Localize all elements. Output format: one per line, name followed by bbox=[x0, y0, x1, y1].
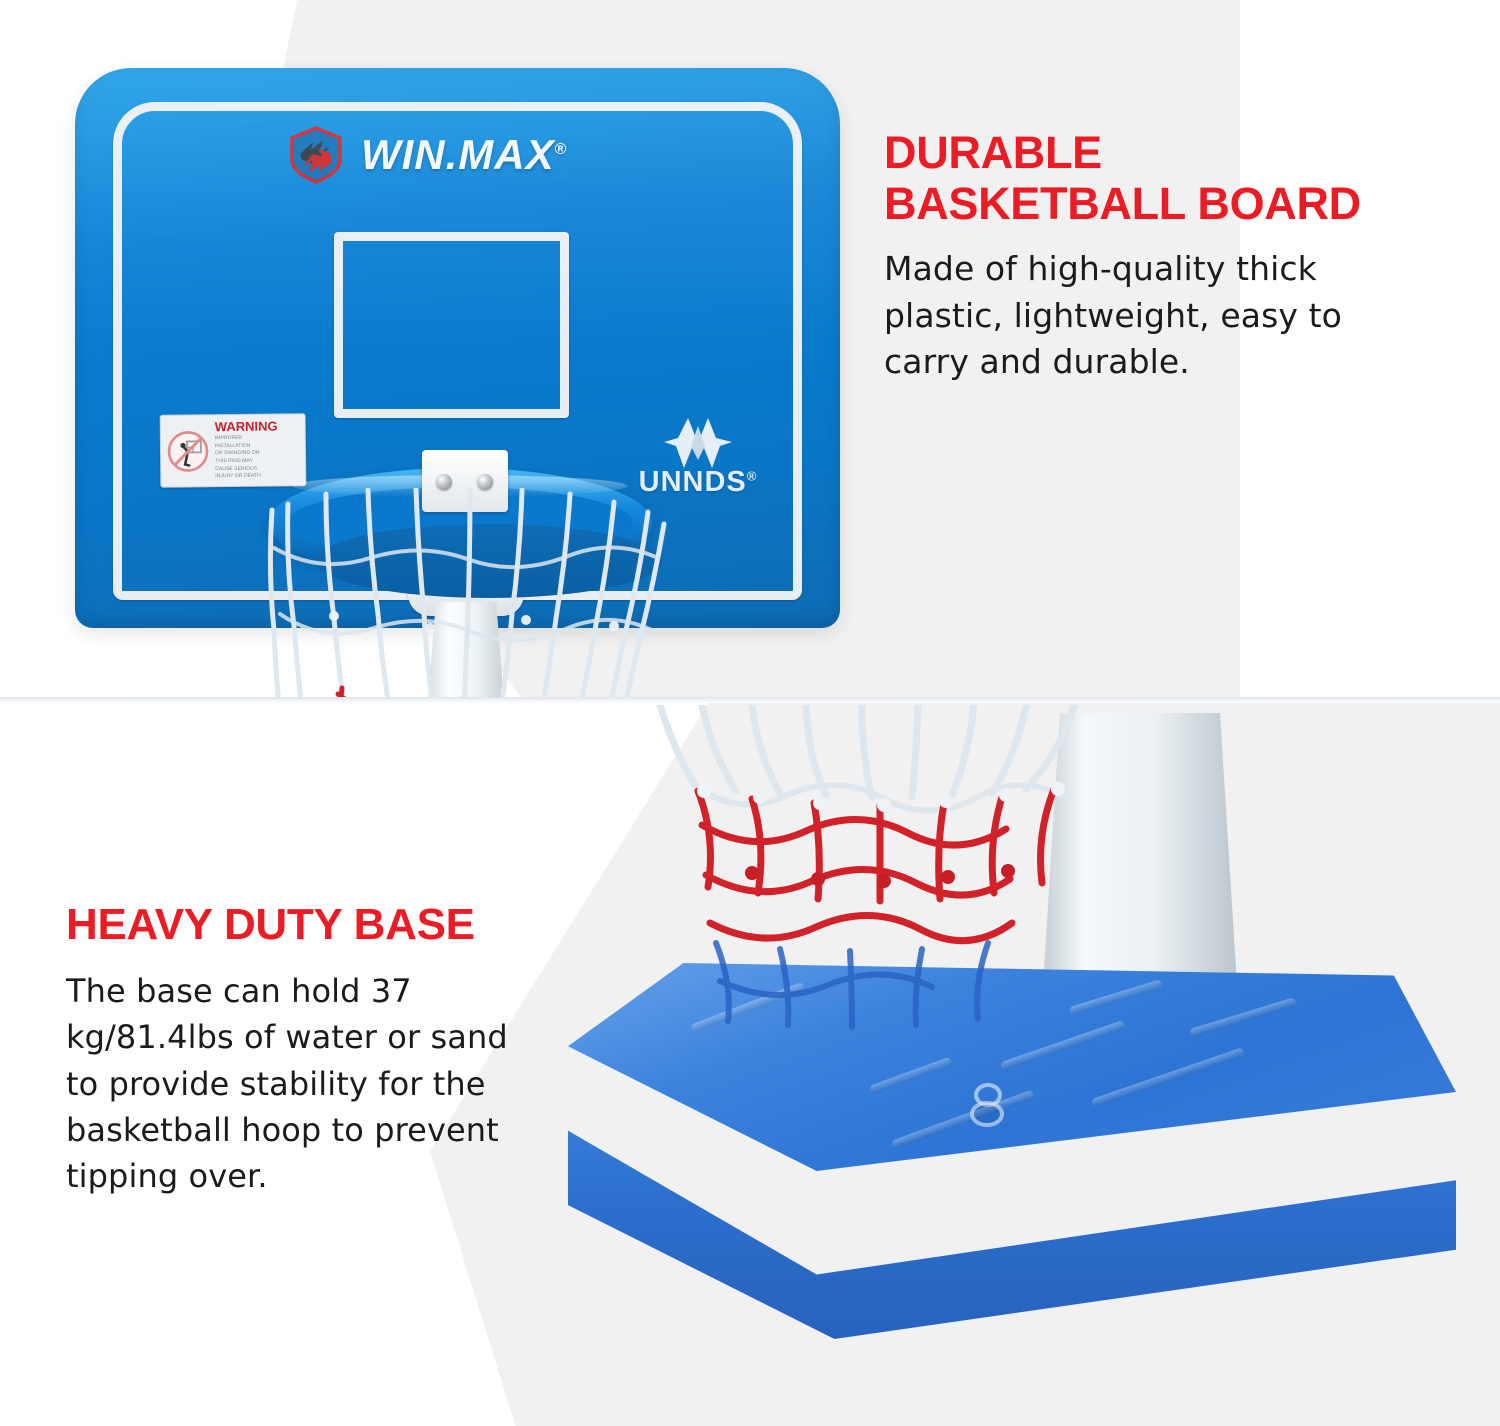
rim-inner-opening bbox=[316, 524, 662, 598]
warning-title: WARNING bbox=[215, 420, 278, 434]
feature-headline: HEAVY DUTY BASE bbox=[66, 900, 536, 950]
product-image-backboard: WIN.MAX® WARNING IMPROPER INSTALLATIO bbox=[60, 58, 860, 697]
winmax-shield-icon bbox=[289, 126, 343, 184]
product-feature-page: WIN.MAX® WARNING IMPROPER INSTALLATIO bbox=[0, 0, 1500, 1426]
panel-durable-basketball-board: WIN.MAX® WARNING IMPROPER INSTALLATIO bbox=[0, 0, 1500, 697]
base-rib bbox=[1091, 1047, 1245, 1108]
bracket-bolt-right bbox=[477, 474, 493, 490]
star-emblem-icon bbox=[662, 416, 734, 470]
brand-logo-text: WIN.MAX® bbox=[361, 131, 567, 179]
feature-text-block-bottom: HEAVY DUTY BASE The base can hold 37 kg/… bbox=[66, 900, 536, 1200]
weighted-base bbox=[568, 963, 1456, 1341]
panel-heavy-duty-base: HEAVY DUTY BASE The base can hold 37 kg/… bbox=[0, 703, 1500, 1426]
bracket-bolt-left bbox=[436, 474, 452, 490]
fill-cap-ring-lower bbox=[970, 1101, 1004, 1127]
feature-description: The base can hold 37 kg/81.4lbs of water… bbox=[66, 968, 536, 1200]
feature-text-block-top: DURABLE BASKETBALL BOARD Made of high-qu… bbox=[884, 128, 1429, 386]
base-top-surface bbox=[568, 963, 1456, 1171]
feature-headline: DURABLE BASKETBALL BOARD bbox=[884, 128, 1429, 230]
base-rib bbox=[891, 1090, 1035, 1150]
rim-mounting-bracket bbox=[422, 450, 508, 512]
product-image-base bbox=[540, 713, 1480, 1426]
feature-description: Made of high-quality thick plastic, ligh… bbox=[884, 246, 1429, 387]
base-rib bbox=[1069, 979, 1163, 1016]
brand-logo-lockup: WIN.MAX® bbox=[289, 126, 567, 184]
backboard-target-square bbox=[334, 232, 569, 418]
base-rib bbox=[690, 982, 805, 1033]
base-rib bbox=[1189, 997, 1297, 1038]
base-rib bbox=[1000, 1020, 1126, 1071]
fill-cap-icon bbox=[970, 1083, 1010, 1129]
no-hanging-on-rim-icon bbox=[166, 429, 210, 473]
support-pole bbox=[424, 602, 508, 697]
basketball-rim-assembly bbox=[258, 450, 662, 697]
base-rib bbox=[869, 1057, 953, 1095]
